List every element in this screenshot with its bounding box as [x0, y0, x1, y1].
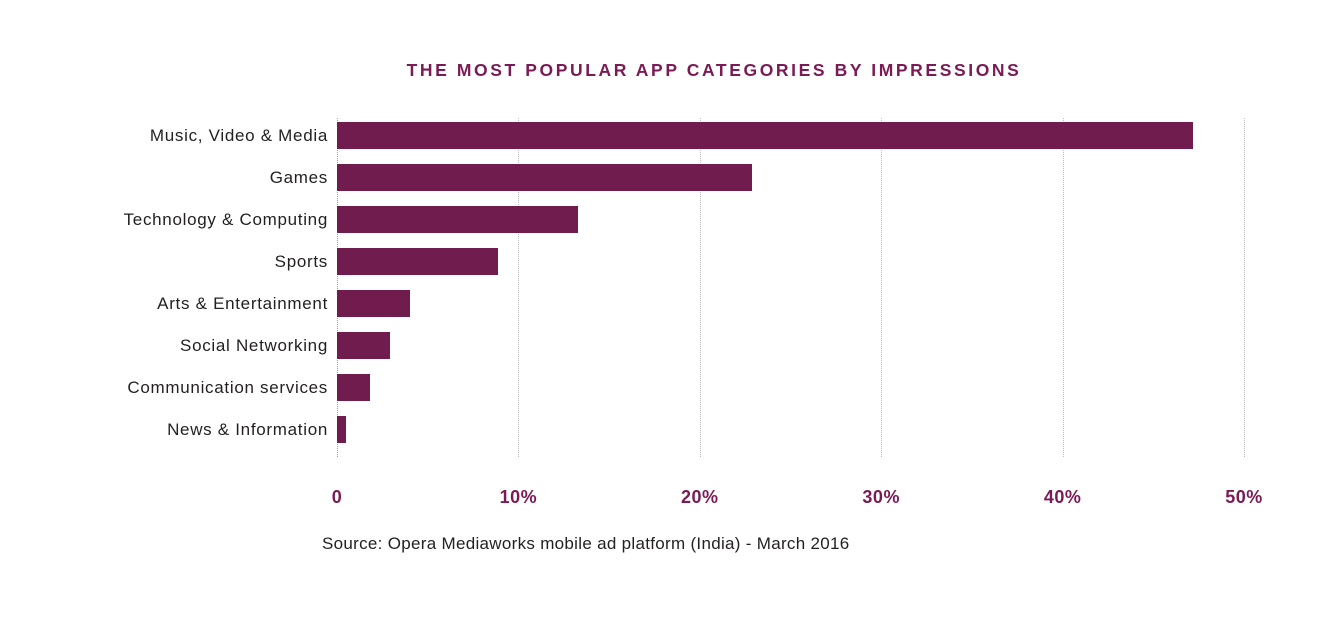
- bar-row: [337, 416, 346, 443]
- category-label: News & Information: [0, 416, 328, 443]
- category-axis: Music, Video & MediaGamesTechnology & Co…: [0, 118, 328, 457]
- bar: [337, 248, 498, 275]
- plot-area: [337, 118, 1244, 457]
- x-tick-label: 50%: [1225, 487, 1263, 508]
- bar-row: [337, 248, 498, 275]
- category-label: Games: [0, 164, 328, 191]
- bar: [337, 416, 346, 443]
- bar-series: [337, 118, 1244, 457]
- x-tick-label: 10%: [500, 487, 538, 508]
- bar: [337, 122, 1193, 149]
- chart-figure: THE MOST POPULAR APP CATEGORIES BY IMPRE…: [0, 0, 1344, 621]
- bar-row: [337, 164, 752, 191]
- category-label: Technology & Computing: [0, 206, 328, 233]
- bar: [337, 374, 370, 401]
- gridline: [1244, 118, 1246, 457]
- category-label: Music, Video & Media: [0, 122, 328, 149]
- bar-row: [337, 206, 578, 233]
- x-tick-label: 40%: [1044, 487, 1082, 508]
- bar: [337, 290, 410, 317]
- bar-row: [337, 374, 370, 401]
- category-label: Arts & Entertainment: [0, 290, 328, 317]
- category-label: Social Networking: [0, 332, 328, 359]
- bar: [337, 332, 390, 359]
- x-axis-tick-labels: 010%20%30%40%50%: [337, 487, 1244, 513]
- x-tick-label: 20%: [681, 487, 719, 508]
- bar-row: [337, 290, 410, 317]
- category-label: Communication services: [0, 374, 328, 401]
- source-caption: Source: Opera Mediaworks mobile ad platf…: [322, 534, 850, 554]
- page-title: THE MOST POPULAR APP CATEGORIES BY IMPRE…: [334, 60, 1094, 81]
- x-tick-label: 30%: [862, 487, 900, 508]
- bar: [337, 164, 752, 191]
- category-label: Sports: [0, 248, 328, 275]
- bar-row: [337, 332, 390, 359]
- x-tick-label: 0: [332, 487, 343, 508]
- bar: [337, 206, 578, 233]
- bar-row: [337, 122, 1193, 149]
